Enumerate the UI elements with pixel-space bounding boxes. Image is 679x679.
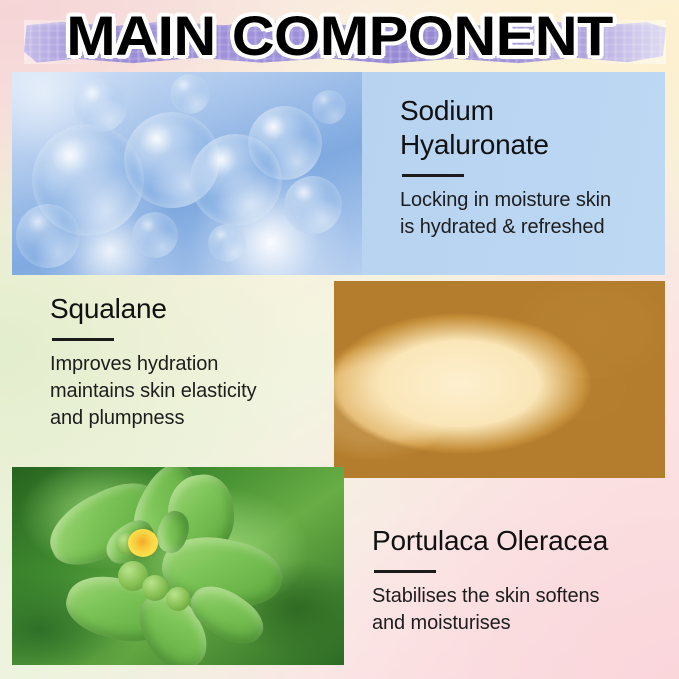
panel-sodium-hyaluronate-text: Sodium Hyaluronate Locking in moisture s… [400, 94, 662, 241]
bubble-decoration [208, 224, 246, 262]
bubble-decoration [248, 106, 322, 180]
body-line-2: is hydrated & refreshed [400, 216, 604, 238]
body-line-2: and moisturises [372, 612, 511, 634]
purslane-plant-image [12, 467, 344, 665]
header: MAIN COMPONENT [0, 0, 679, 72]
flower-bud-decoration [142, 575, 168, 601]
body-line-1: Stabilises the skin softens [372, 585, 599, 607]
panel-sodium-hyaluronate-body: Locking in moisture skin is hydrated & r… [400, 187, 662, 241]
heading-line-2: Hyaluronate [400, 129, 549, 160]
bubble-decoration [16, 204, 80, 268]
golden-oil-bubbles-image [334, 281, 665, 478]
yellow-flower-icon [128, 529, 158, 557]
panel-squalane-heading: Squalane [50, 292, 350, 326]
body-line-2: maintains skin elasticity [50, 380, 256, 402]
heading-divider [374, 570, 436, 573]
body-line-1: Locking in moisture skin [400, 189, 611, 211]
bubble-decoration [132, 212, 178, 258]
panel-sodium-hyaluronate-heading: Sodium Hyaluronate [400, 94, 662, 162]
panel-portulaca-oleracea-heading: Portulaca Oleracea [372, 524, 668, 558]
panel-squalane-body: Improves hydration maintains skin elasti… [50, 351, 350, 432]
flower-bud-decoration [166, 587, 190, 611]
page-title: MAIN COMPONENT [0, 4, 679, 68]
panel-portulaca-oleracea-body: Stabilises the skin softens and moisturi… [372, 583, 668, 637]
bubble-decoration [284, 176, 342, 234]
heading-divider [52, 338, 114, 341]
bubble-decoration [312, 90, 346, 124]
heading-divider [402, 174, 464, 177]
body-line-3: and plumpness [50, 407, 184, 429]
body-line-1: Improves hydration [50, 353, 218, 375]
heading-line-1: Sodium [400, 95, 494, 126]
panel-sodium-hyaluronate: Sodium Hyaluronate Locking in moisture s… [12, 72, 665, 275]
infographic-poster: MAIN COMPONENT Sodium Hyaluronate Lockin… [0, 0, 679, 679]
water-bubbles-image [12, 72, 362, 275]
panel-portulaca-oleracea-text: Portulaca Oleracea Stabilises the skin s… [372, 524, 668, 637]
panel-squalane-text: Squalane Improves hydration maintains sk… [50, 292, 350, 432]
bubble-decoration [170, 74, 210, 114]
